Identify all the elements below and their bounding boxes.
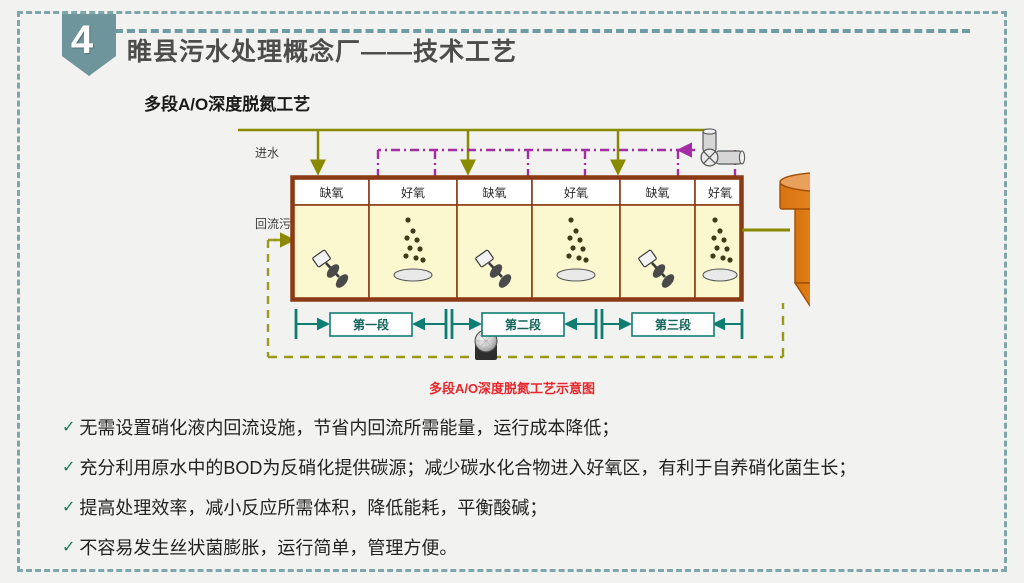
segment-3-box: 第三段 xyxy=(632,313,714,336)
influent-label: 进水 xyxy=(255,146,279,160)
diagram-caption: 多段A/O深度脱氮工艺示意图 xyxy=(0,378,1024,397)
section-number-label: 4 xyxy=(55,16,109,64)
bullet-item: ✓ 不容易发生丝状菌膨胀，运行简单，管理方便。 xyxy=(62,528,1012,568)
tank-1-label: 缺氧 xyxy=(319,185,343,200)
svg-text:第一段: 第一段 xyxy=(353,317,390,332)
page-title: 睢县污水处理概念厂——技术工艺 xyxy=(127,32,517,68)
diagram-subtitle: 多段A/O深度脱氮工艺 xyxy=(144,90,310,115)
tank-3-anoxic: 缺氧 xyxy=(457,179,532,298)
tank-5-label: 缺氧 xyxy=(645,185,669,200)
slide-header: 4 睢县污水处理概念厂——技术工艺 xyxy=(55,14,975,76)
tank-5-anoxic: 缺氧 xyxy=(620,179,695,298)
bullet-text: 无需设置硝化液内回流设施，节省内回流所需能量，运行成本降低； xyxy=(79,408,619,448)
tank-4-label: 好氧 xyxy=(564,186,588,200)
slide-canvas: 4 睢县污水处理概念厂——技术工艺 多段A/O深度脱氮工艺 xyxy=(0,0,1024,583)
bullet-item: ✓ 提高处理效率，减小反应所需体积，降低能耗，平衡酸碱； xyxy=(62,488,1012,528)
tank-3-label: 缺氧 xyxy=(482,185,506,200)
bullet-text: 提高处理效率，减小反应所需体积，降低能耗，平衡酸碱； xyxy=(79,488,547,528)
bullet-item: ✓ 无需设置硝化液内回流设施，节省内回流所需能量，运行成本降低； xyxy=(62,408,1012,448)
diffuser-icon xyxy=(394,269,432,281)
check-icon: ✓ xyxy=(62,448,75,488)
valve-icon xyxy=(701,129,745,166)
tank-2-aerobic: 好氧 xyxy=(369,179,457,298)
tank-1-anoxic: 缺氧 xyxy=(294,179,369,298)
clarifier-icon xyxy=(780,172,810,337)
svg-text:第二段: 第二段 xyxy=(505,317,542,332)
segment-markers: 第一段 第二段 第三段 xyxy=(296,309,742,339)
tank-2-label: 好氧 xyxy=(401,186,425,200)
check-icon: ✓ xyxy=(62,488,75,528)
segment-1-box: 第一段 xyxy=(330,313,412,336)
tank-6-label: 好氧 xyxy=(708,186,732,200)
bullet-text: 充分利用原水中的BOD为反硝化提供碳源；减少碳水化合物进入好氧区，有利于自养硝化… xyxy=(79,448,856,488)
return-sludge-line-group xyxy=(268,240,292,357)
bullet-item: ✓ 充分利用原水中的BOD为反硝化提供碳源；减少碳水化合物进入好氧区，有利于自养… xyxy=(62,448,1012,488)
diffuser-icon xyxy=(703,269,737,281)
check-icon: ✓ xyxy=(62,528,75,568)
segment-2-box: 第二段 xyxy=(482,313,564,336)
process-flow-diagram: 进水 xyxy=(230,125,810,400)
svg-text:第三段: 第三段 xyxy=(655,317,692,332)
check-icon: ✓ xyxy=(62,408,75,448)
bullet-list: ✓ 无需设置硝化液内回流设施，节省内回流所需能量，运行成本降低； ✓ 充分利用原… xyxy=(62,408,1012,568)
tank-4-aerobic: 好氧 xyxy=(532,179,620,298)
diffuser-icon xyxy=(557,269,595,281)
tank-6-aerobic: 好氧 xyxy=(695,179,740,298)
bullet-text: 不容易发生丝状菌膨胀，运行简单，管理方便。 xyxy=(79,528,457,568)
